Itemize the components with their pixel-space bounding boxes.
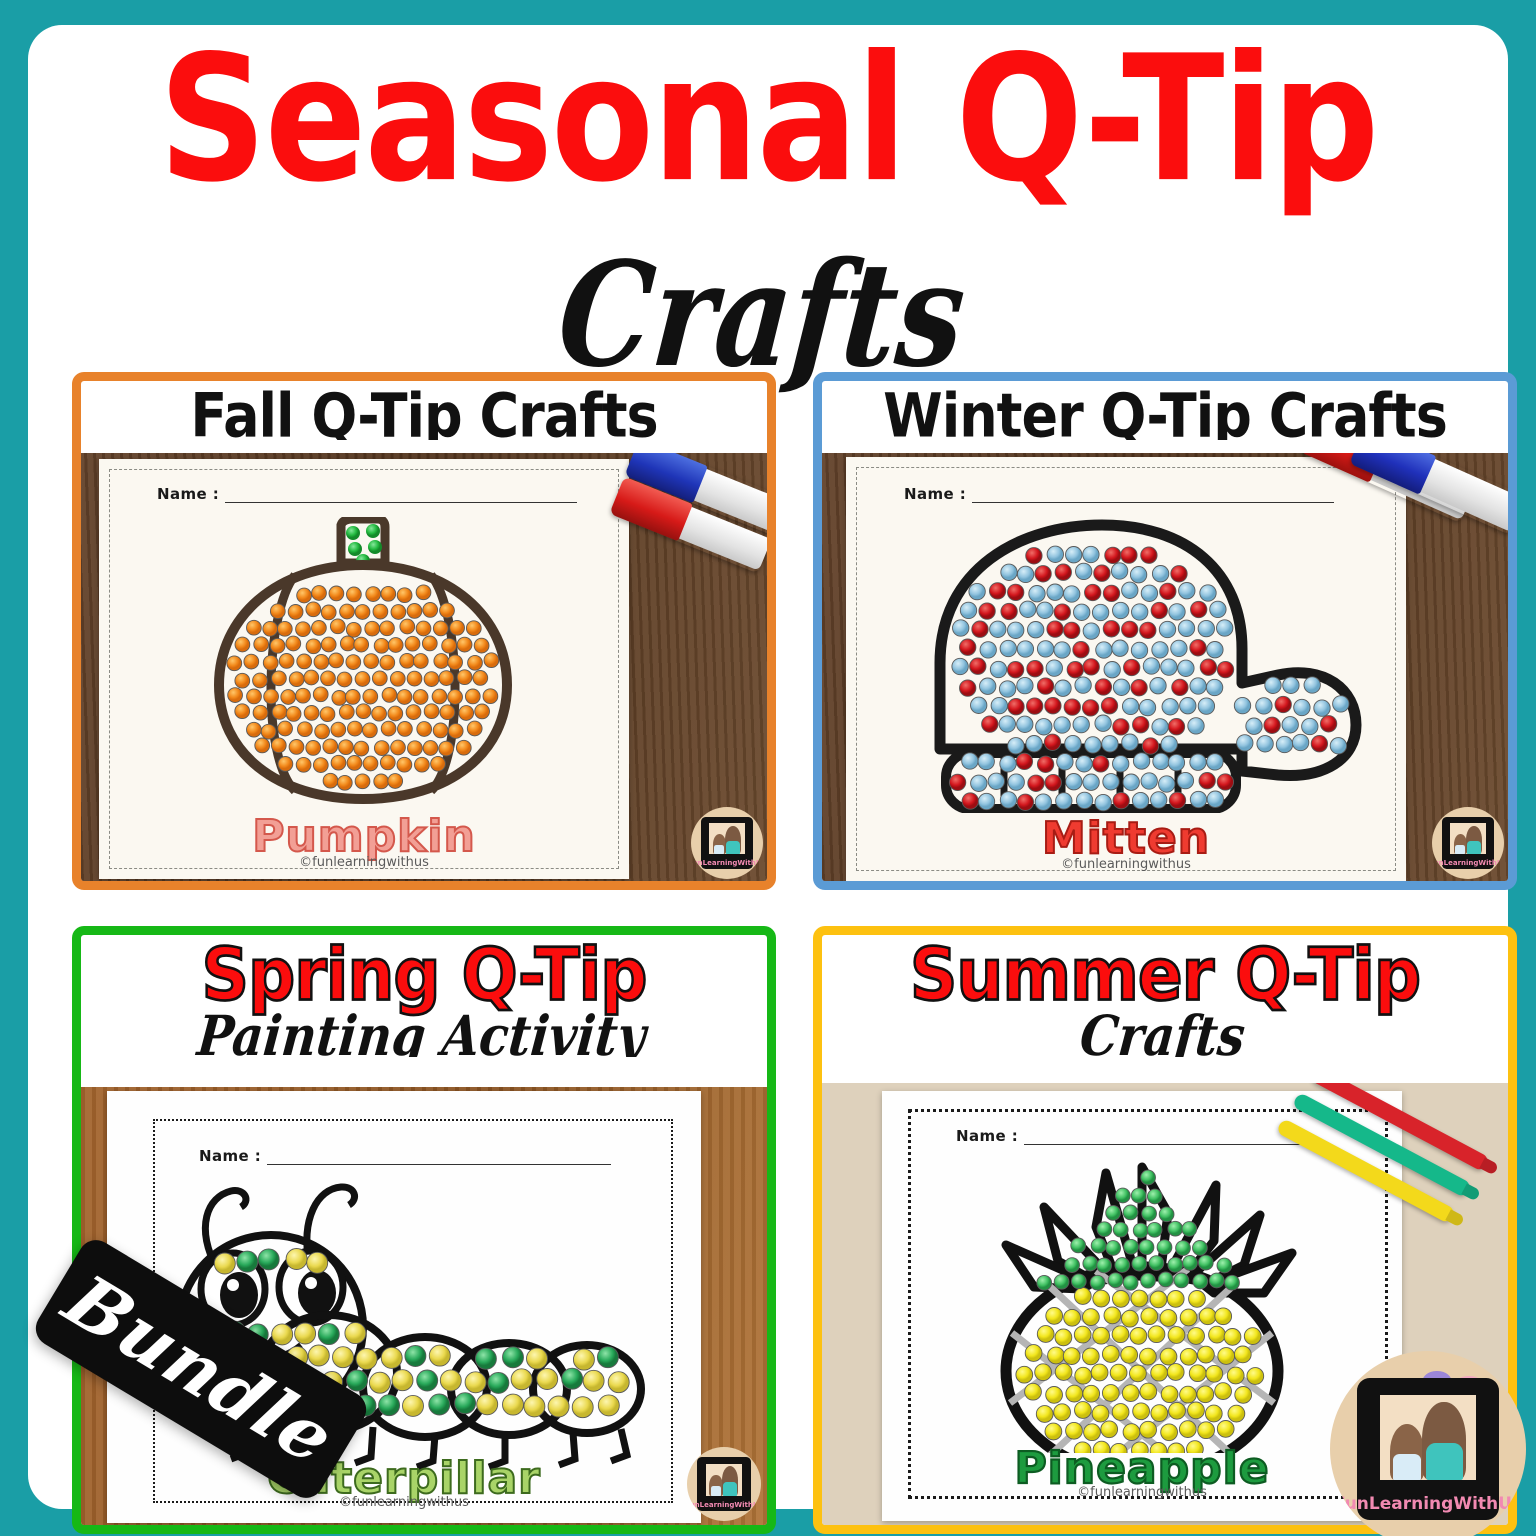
name-label: Name :	[157, 485, 219, 503]
name-field-row[interactable]: Name :	[956, 1127, 1326, 1145]
page-title: Seasonal Q-Tip Crafts	[28, 33, 1508, 361]
watermark-text: ©funlearningwithus	[99, 855, 629, 870]
panel-spring-heading: Spring Q-Tip Painting Activity	[81, 935, 767, 1057]
watermark-text: ©funlearningwithus	[882, 1485, 1402, 1500]
name-label: Name :	[956, 1127, 1018, 1145]
pineapple-dot-art	[936, 1153, 1348, 1453]
name-field-row[interactable]: Name :	[199, 1147, 611, 1165]
name-field-row[interactable]: Name :	[904, 485, 1334, 503]
panel-fall-heading-line1: Fall Q-Tip Crafts	[81, 385, 767, 440]
title-script-text: Crafts	[16, 243, 1508, 387]
panel-spring[interactable]: Spring Q-Tip Painting Activity Name :	[72, 926, 776, 1534]
logo-caption: FunLearningWithUs	[691, 859, 763, 867]
logo-badge-small: FunLearningWithUs	[687, 1447, 761, 1521]
panel-winter[interactable]: Winter Q-Tip Crafts Name :	[813, 372, 1517, 890]
panel-summer-heading: Summer Q-Tip Crafts	[822, 935, 1508, 1057]
watermark-text: ©funlearningwithus	[846, 857, 1406, 872]
logo-badge-main: FunLearningWithUs	[1330, 1351, 1526, 1536]
panel-fall[interactable]: Fall Q-Tip Crafts Name :	[72, 372, 776, 890]
panel-fall-heading: Fall Q-Tip Crafts	[81, 381, 767, 440]
name-label: Name :	[904, 485, 966, 503]
logo-badge-small: FunLearningWithUs	[1432, 807, 1504, 879]
logo-badge-small: FunLearningWithUs	[691, 807, 763, 879]
panel-spring-heading-line1: Spring Q-Tip	[81, 939, 767, 1012]
worksheet-mitten: Name :	[846, 457, 1406, 881]
panel-winter-heading: Winter Q-Tip Crafts	[822, 381, 1508, 440]
logo-caption: FunLearningWithUs	[1432, 859, 1504, 867]
pumpkin-dot-art	[127, 517, 601, 807]
worksheet-pumpkin: Name :	[99, 459, 629, 879]
name-field-row[interactable]: Name :	[157, 485, 577, 503]
panel-winter-heading-line1: Winter Q-Tip Crafts	[822, 385, 1508, 440]
mitten-dot-art	[880, 513, 1376, 813]
panel-summer-heading-line1: Summer Q-Tip	[822, 939, 1508, 1012]
logo-caption: FunLearningWithUs	[687, 1501, 761, 1509]
title-main-text: Seasonal Q-Tip	[28, 33, 1508, 207]
name-label: Name :	[199, 1147, 261, 1165]
product-cover-card: Seasonal Q-Tip Crafts Fall Q-Tip Crafts …	[28, 25, 1508, 1509]
name-input-line[interactable]	[267, 1152, 611, 1165]
panel-winter-photo: Name :	[822, 453, 1508, 881]
panel-spring-heading-line2: Painting Activity	[81, 1009, 767, 1057]
logo-caption: FunLearningWithUs	[1334, 1494, 1522, 1514]
name-input-line[interactable]	[225, 490, 577, 503]
name-input-line[interactable]	[972, 490, 1334, 503]
panel-fall-photo: Name :	[81, 453, 767, 881]
watermark-text: ©funlearningwithus	[107, 1495, 701, 1510]
panel-summer-heading-line2: Crafts	[822, 1009, 1508, 1057]
